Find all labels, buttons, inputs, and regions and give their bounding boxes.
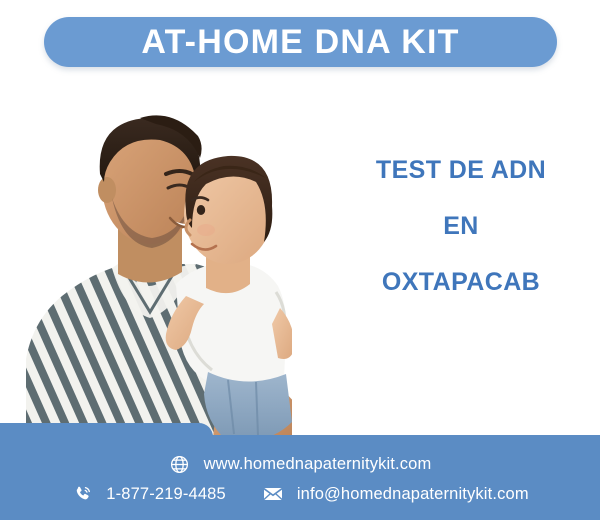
phone-icon (71, 483, 93, 505)
header-badge-label: AT-HOME DNA KIT (141, 25, 459, 59)
page-title: TEST DE ADN EN OXTAPACAB (330, 158, 592, 295)
phone-contact[interactable]: 1-877-219-4485 (71, 483, 226, 505)
phone-label: 1-877-219-4485 (106, 486, 226, 503)
poster-canvas: AT-HOME DNA KIT (0, 0, 600, 520)
header-badge: AT-HOME DNA KIT (44, 17, 557, 67)
title-line-1: TEST DE ADN (330, 158, 592, 183)
email-contact[interactable]: info@homednapaternitykit.com (262, 483, 529, 505)
email-label: info@homednapaternitykit.com (297, 486, 529, 503)
family-photo-image (0, 78, 340, 446)
family-photo (0, 78, 340, 446)
title-line-2: EN (330, 214, 592, 239)
footer-row-website: www.homednapaternitykit.com (0, 453, 600, 475)
website-label: www.homednapaternitykit.com (204, 456, 432, 473)
website-contact[interactable]: www.homednapaternitykit.com (169, 453, 432, 475)
title-line-3: OXTAPACAB (330, 270, 592, 295)
globe-icon (169, 453, 191, 475)
footer-notch (0, 423, 213, 447)
footer-bar: www.homednapaternitykit.com 1-877-219-44… (0, 435, 600, 520)
footer-row-phone-email: 1-877-219-4485 info@homednapaternitykit.… (0, 483, 600, 505)
envelope-icon (262, 483, 284, 505)
